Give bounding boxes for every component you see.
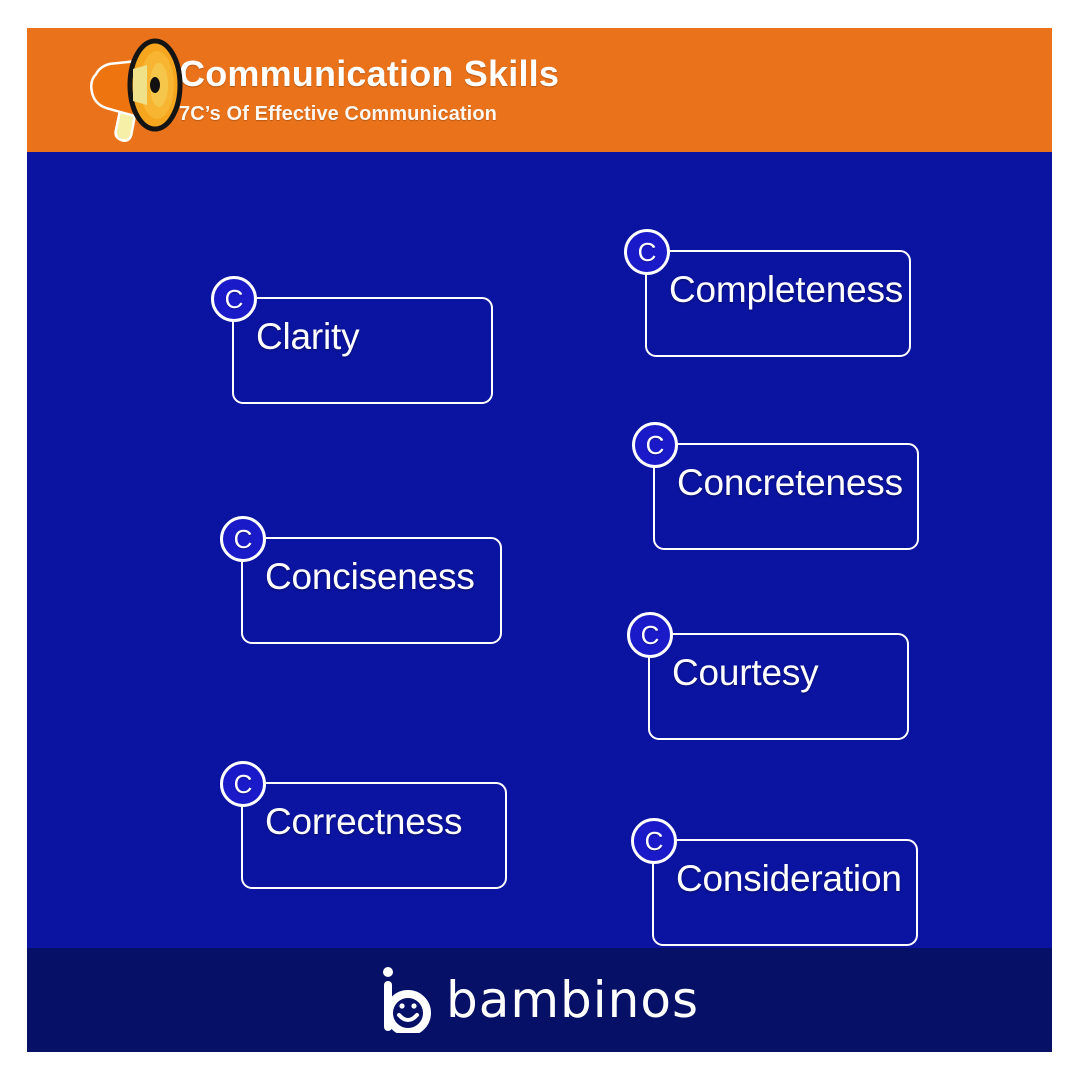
card-label: Consideration: [676, 858, 902, 900]
footer-banner: bambinos: [27, 948, 1052, 1052]
card-conciseness[interactable]: C Conciseness: [241, 537, 502, 644]
card-correctness[interactable]: C Correctness: [241, 782, 507, 889]
page-subtitle: 7C’s Of Effective Communication: [179, 102, 1052, 126]
card-label: Concreteness: [677, 462, 903, 504]
card-clarity[interactable]: C Clarity: [232, 297, 493, 404]
badge-icon: C: [627, 612, 673, 658]
card-label: Conciseness: [265, 556, 475, 598]
badge-icon: C: [211, 276, 257, 322]
badge-icon: C: [631, 818, 677, 864]
card-label: Courtesy: [672, 652, 818, 694]
cards-area: C Clarity C Completeness C Concreteness …: [27, 152, 1052, 948]
page-title: Communication Skills: [179, 54, 1052, 94]
header-text-block: Communication Skills 7C’s Of Effective C…: [177, 54, 1052, 125]
card-completeness[interactable]: C Completeness: [645, 250, 911, 357]
badge-icon: C: [220, 516, 266, 562]
header-banner: Communication Skills 7C’s Of Effective C…: [27, 28, 1052, 152]
card-consideration[interactable]: C Consideration: [652, 839, 918, 946]
megaphone-icon: [27, 28, 177, 152]
badge-icon: C: [624, 229, 670, 275]
card-label: Clarity: [256, 316, 359, 358]
card-concreteness[interactable]: C Concreteness: [653, 443, 919, 550]
poster: Communication Skills 7C’s Of Effective C…: [27, 28, 1052, 1052]
smiley-b-icon: [380, 967, 432, 1033]
card-label: Correctness: [265, 801, 462, 843]
brand-name: bambinos: [446, 971, 699, 1029]
badge-icon: C: [632, 422, 678, 468]
card-label: Completeness: [669, 269, 903, 311]
brand-logo[interactable]: bambinos: [380, 967, 699, 1033]
badge-icon: C: [220, 761, 266, 807]
card-courtesy[interactable]: C Courtesy: [648, 633, 909, 740]
